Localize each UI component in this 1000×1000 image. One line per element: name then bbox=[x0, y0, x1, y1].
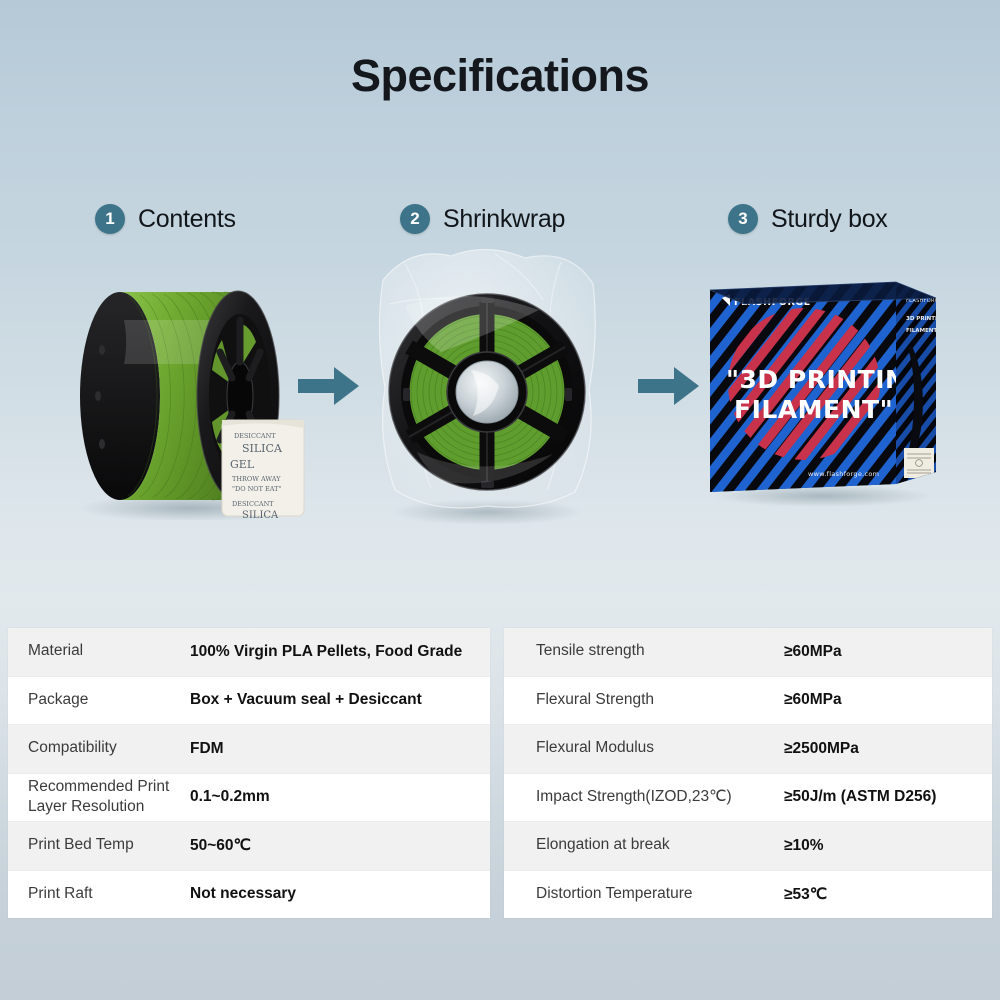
spec-value: 50~60℃ bbox=[190, 836, 490, 855]
step-label-1: Contents bbox=[138, 205, 236, 234]
spec-value: ≥2500MPa bbox=[784, 740, 992, 758]
table-row: Impact Strength(IZOD,23℃) ≥50J/m (ASTM D… bbox=[504, 774, 992, 823]
shrinkwrapped-spool-image bbox=[375, 240, 600, 525]
table-row: Material 100% Virgin PLA Pellets, Food G… bbox=[8, 628, 490, 677]
box-side-line2: FILAMENT bbox=[906, 328, 937, 334]
spec-value: ≥60MPa bbox=[784, 691, 992, 709]
spec-key: Distortion Temperature bbox=[504, 884, 784, 905]
spec-value: ≥53℃ bbox=[784, 885, 992, 904]
page-title: Specifications bbox=[0, 50, 1000, 102]
table-row: Flexural Strength ≥60MPa bbox=[504, 677, 992, 726]
spec-key: Tensile strength bbox=[504, 641, 784, 662]
spec-key: Print Raft bbox=[8, 884, 190, 905]
box-url: www.flashforge.com bbox=[808, 470, 879, 478]
svg-text:GEL: GEL bbox=[230, 458, 255, 471]
svg-text:DESICCANT: DESICCANT bbox=[232, 500, 274, 508]
box-headline-line2: FILAMENT" bbox=[734, 395, 893, 424]
specifications-infographic: Specifications 1 Contents 2 Shrinkwrap 3… bbox=[0, 0, 1000, 1000]
step-label-2: Shrinkwrap bbox=[443, 205, 565, 234]
step-header-3: 3 Sturdy box bbox=[728, 204, 888, 234]
desiccant-packet-icon: DESICCANT SILICA GEL THROW AWAY "DO NOT … bbox=[222, 420, 304, 520]
spec-value: ≥50J/m (ASTM D256) bbox=[784, 788, 992, 806]
spec-value: ≥60MPa bbox=[784, 643, 992, 661]
spec-value: 100% Virgin PLA Pellets, Food Grade bbox=[190, 643, 490, 661]
spec-key: Flexural Strength bbox=[504, 690, 784, 711]
spec-key: Package bbox=[8, 690, 190, 711]
step-badge-3: 3 bbox=[728, 204, 758, 234]
filament-spool-image: DESICCANT SILICA GEL THROW AWAY "DO NOT … bbox=[62, 280, 322, 520]
table-row: Package Box + Vacuum seal + Desiccant bbox=[8, 677, 490, 726]
spec-value: FDM bbox=[190, 740, 490, 758]
product-box-image: "3D PRINTING FILAMENT" FLASHFORGE www.fl… bbox=[700, 272, 945, 507]
box-side-line1: 3D PRINTING bbox=[906, 316, 945, 322]
table-row: Elongation at break ≥10% bbox=[504, 822, 992, 871]
spec-key: Flexural Modulus bbox=[504, 738, 784, 759]
table-row: Tensile strength ≥60MPa bbox=[504, 628, 992, 677]
spec-table-left: Material 100% Virgin PLA Pellets, Food G… bbox=[8, 628, 490, 918]
step-badge-2: 2 bbox=[400, 204, 430, 234]
table-row: Distortion Temperature ≥53℃ bbox=[504, 871, 992, 919]
spec-key: Compatibility bbox=[8, 738, 190, 759]
svg-text:SILICA: SILICA bbox=[242, 510, 279, 520]
spec-value: Box + Vacuum seal + Desiccant bbox=[190, 691, 490, 709]
svg-text:"DO NOT EAT": "DO NOT EAT" bbox=[232, 485, 281, 493]
svg-text:DESICCANT: DESICCANT bbox=[234, 432, 276, 440]
spec-value: 0.1~0.2mm bbox=[190, 788, 490, 806]
table-row: Flexural Modulus ≥2500MPa bbox=[504, 725, 992, 774]
step-badge-1: 1 bbox=[95, 204, 125, 234]
step-header-2: 2 Shrinkwrap bbox=[400, 204, 565, 234]
spec-key: Material bbox=[8, 641, 190, 662]
svg-text:SILICA: SILICA bbox=[242, 442, 283, 455]
table-row: Recommended Print Layer Resolution 0.1~0… bbox=[8, 774, 490, 823]
step-label-3: Sturdy box bbox=[771, 205, 888, 234]
arrow-right-icon-2 bbox=[638, 366, 700, 406]
table-row: Print Bed Temp 50~60℃ bbox=[8, 822, 490, 871]
spec-key: Print Bed Temp bbox=[8, 835, 190, 856]
table-row: Print Raft Not necessary bbox=[8, 871, 490, 919]
spec-value: ≥10% bbox=[784, 837, 992, 855]
spec-key: Impact Strength(IZOD,23℃) bbox=[504, 787, 784, 808]
svg-text:THROW AWAY: THROW AWAY bbox=[232, 475, 281, 483]
step-header-1: 1 Contents bbox=[95, 204, 236, 234]
spec-table-right: Tensile strength ≥60MPa Flexural Strengt… bbox=[504, 628, 992, 918]
spec-key: Elongation at break bbox=[504, 835, 784, 856]
spec-value: Not necessary bbox=[190, 885, 490, 903]
table-row: Compatibility FDM bbox=[8, 725, 490, 774]
spec-key: Recommended Print Layer Resolution bbox=[8, 777, 190, 818]
